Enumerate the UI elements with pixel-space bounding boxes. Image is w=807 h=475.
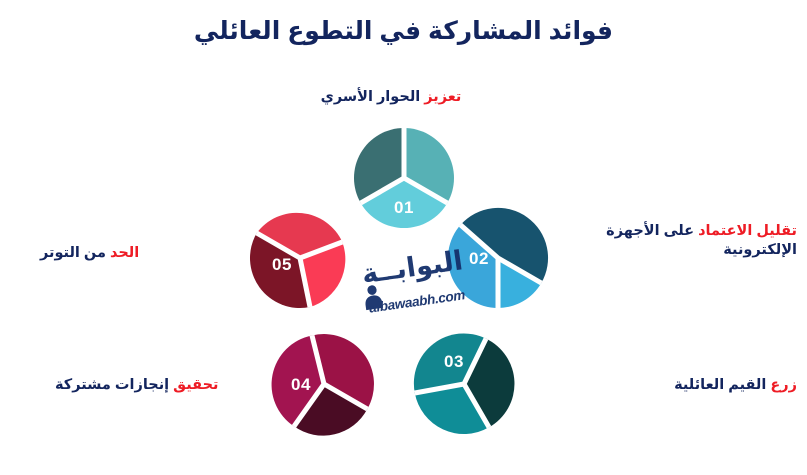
pie-chart-04[interactable]: 04 — [272, 332, 376, 436]
callout-02-line1: تقليل الاعتماد على الأجهزة — [567, 222, 797, 241]
pie-03-svg: 03 — [412, 332, 516, 436]
pie-01-number: 01 — [394, 198, 414, 217]
callout-02-line2: الإلكترونية — [567, 241, 797, 260]
callout-label-05: الحد من التوتر — [40, 244, 210, 263]
callout-label-01: تعزيز الحوار الأسري — [286, 88, 496, 107]
pie-02-number: 02 — [469, 249, 489, 268]
callout-03-rest: القيم العائلية — [674, 377, 766, 393]
callout-label-03: زرع القيم العائلية — [577, 376, 797, 395]
pie-chart-01[interactable]: 01 — [352, 126, 456, 230]
infographic-canvas: فوائد المشاركة في التطوع العائلي 01 02 — [0, 0, 807, 475]
pie-chart-03[interactable]: 03 — [412, 332, 516, 436]
person-icon — [360, 283, 385, 312]
page-title: فوائد المشاركة في التطوع العائلي — [0, 16, 807, 46]
pie-04-number: 04 — [291, 375, 311, 394]
pie-02-svg: 02 — [446, 206, 550, 310]
callout-02-rest: على الأجهزة — [606, 223, 694, 239]
callout-05-highlight: الحد — [110, 245, 139, 261]
callout-03-highlight: زرع — [770, 377, 797, 393]
callout-05-rest: من التوتر — [40, 245, 106, 261]
callout-01-highlight: تعزيز — [424, 89, 461, 105]
pie-05-svg: 05 — [248, 206, 352, 310]
pie-03-number: 03 — [444, 352, 464, 371]
callout-04-highlight: تحقيق — [173, 377, 218, 393]
callout-02-highlight: تقليل الاعتماد — [698, 223, 797, 239]
pie-05-number: 05 — [272, 255, 292, 274]
callout-01-rest: الحوار الأسري — [321, 89, 421, 105]
callout-label-04: تحقيق إنجازات مشتركة — [55, 376, 285, 395]
callout-label-02: تقليل الاعتماد على الأجهزة الإلكترونية — [567, 222, 797, 260]
pie-01-svg: 01 — [352, 126, 456, 230]
pie-chart-05[interactable]: 05 — [248, 206, 352, 310]
pie-04-svg: 04 — [272, 332, 376, 436]
callout-04-rest: إنجازات مشتركة — [55, 377, 169, 393]
pie-chart-02[interactable]: 02 — [446, 206, 550, 310]
